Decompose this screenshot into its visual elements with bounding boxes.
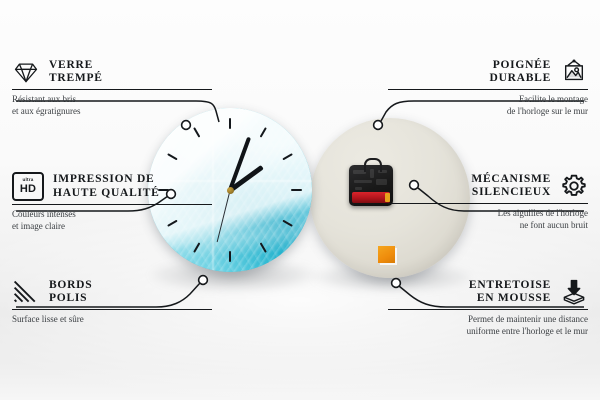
clock-hands-hub <box>227 187 234 194</box>
ultra-hd-badge-icon: ultra HD <box>12 172 44 201</box>
diamond-icon <box>12 58 40 86</box>
feature-divider <box>12 204 212 205</box>
infographic-canvas: VERRE TREMPÉ Résistant aux bris et aux é… <box>0 0 600 400</box>
feature-header: ENTRETOISE EN MOUSSE <box>388 278 588 306</box>
feature-divider <box>388 203 588 204</box>
feature-description: Permet de maintenir une distance uniform… <box>388 314 588 337</box>
feature-divider <box>12 89 212 90</box>
feature-header: MÉCANISME SILENCIEUX <box>388 172 588 200</box>
feature-description: Facilite le montage de l'horloge sur le … <box>388 94 588 117</box>
feature-title: POIGNÉE DURABLE <box>490 59 551 86</box>
gear-icon <box>560 172 588 200</box>
feature-description: Les aiguilles de l'horloge ne font aucun… <box>388 208 588 231</box>
feature-description: Surface lisse et sûre <box>12 314 212 326</box>
glass-seam-vertical <box>212 108 214 272</box>
hour-tick <box>229 251 231 262</box>
clock-battery <box>352 192 390 203</box>
mechanism-detail <box>355 187 362 190</box>
polished-edge-lines-icon <box>12 278 40 306</box>
feature-mecanisme-silencieux: MÉCANISME SILENCIEUX Les aiguilles de l'… <box>388 172 588 231</box>
foam-spacer-icon <box>560 278 588 306</box>
feature-header: BORDS POLIS <box>12 278 212 306</box>
mechanism-detail <box>354 180 372 183</box>
feature-divider <box>388 89 588 90</box>
foam-spacer-pad <box>378 246 395 263</box>
feature-title: VERRE TREMPÉ <box>49 59 103 86</box>
feature-description: Résistant aux bris et aux égratignures <box>12 94 212 117</box>
hour-tick <box>291 189 302 191</box>
hour-tick <box>229 118 231 129</box>
feature-poignee-durable: POIGNÉE DURABLE Facilite le montage de l… <box>388 58 588 117</box>
feature-title: IMPRESSION DE HAUTE QUALITÉ <box>53 173 160 200</box>
picture-frame-hanger-icon <box>560 58 588 86</box>
feature-divider <box>12 309 212 310</box>
feature-header: ultra HD IMPRESSION DE HAUTE QUALITÉ <box>12 172 212 201</box>
feature-title: ENTRETOISE EN MOUSSE <box>469 279 551 306</box>
feature-title: MÉCANISME SILENCIEUX <box>471 173 551 200</box>
feature-impression-haute-qualite: ultra HD IMPRESSION DE HAUTE QUALITÉ Cou… <box>12 172 212 232</box>
feature-entretoise-en-mousse: ENTRETOISE EN MOUSSE Permet de maintenir… <box>388 278 588 337</box>
mechanism-detail <box>376 179 387 185</box>
feature-divider <box>388 309 588 310</box>
feature-title: BORDS POLIS <box>49 279 92 306</box>
feature-verre-trempe: VERRE TREMPÉ Résistant aux bris et aux é… <box>12 58 212 117</box>
feature-bords-polis: BORDS POLIS Surface lisse et sûre <box>12 278 212 326</box>
feature-description: Couleurs intenses et image claire <box>12 209 212 232</box>
clock-hanger-hook <box>364 158 382 172</box>
feature-header: POIGNÉE DURABLE <box>388 58 588 86</box>
feature-header: VERRE TREMPÉ <box>12 58 212 86</box>
